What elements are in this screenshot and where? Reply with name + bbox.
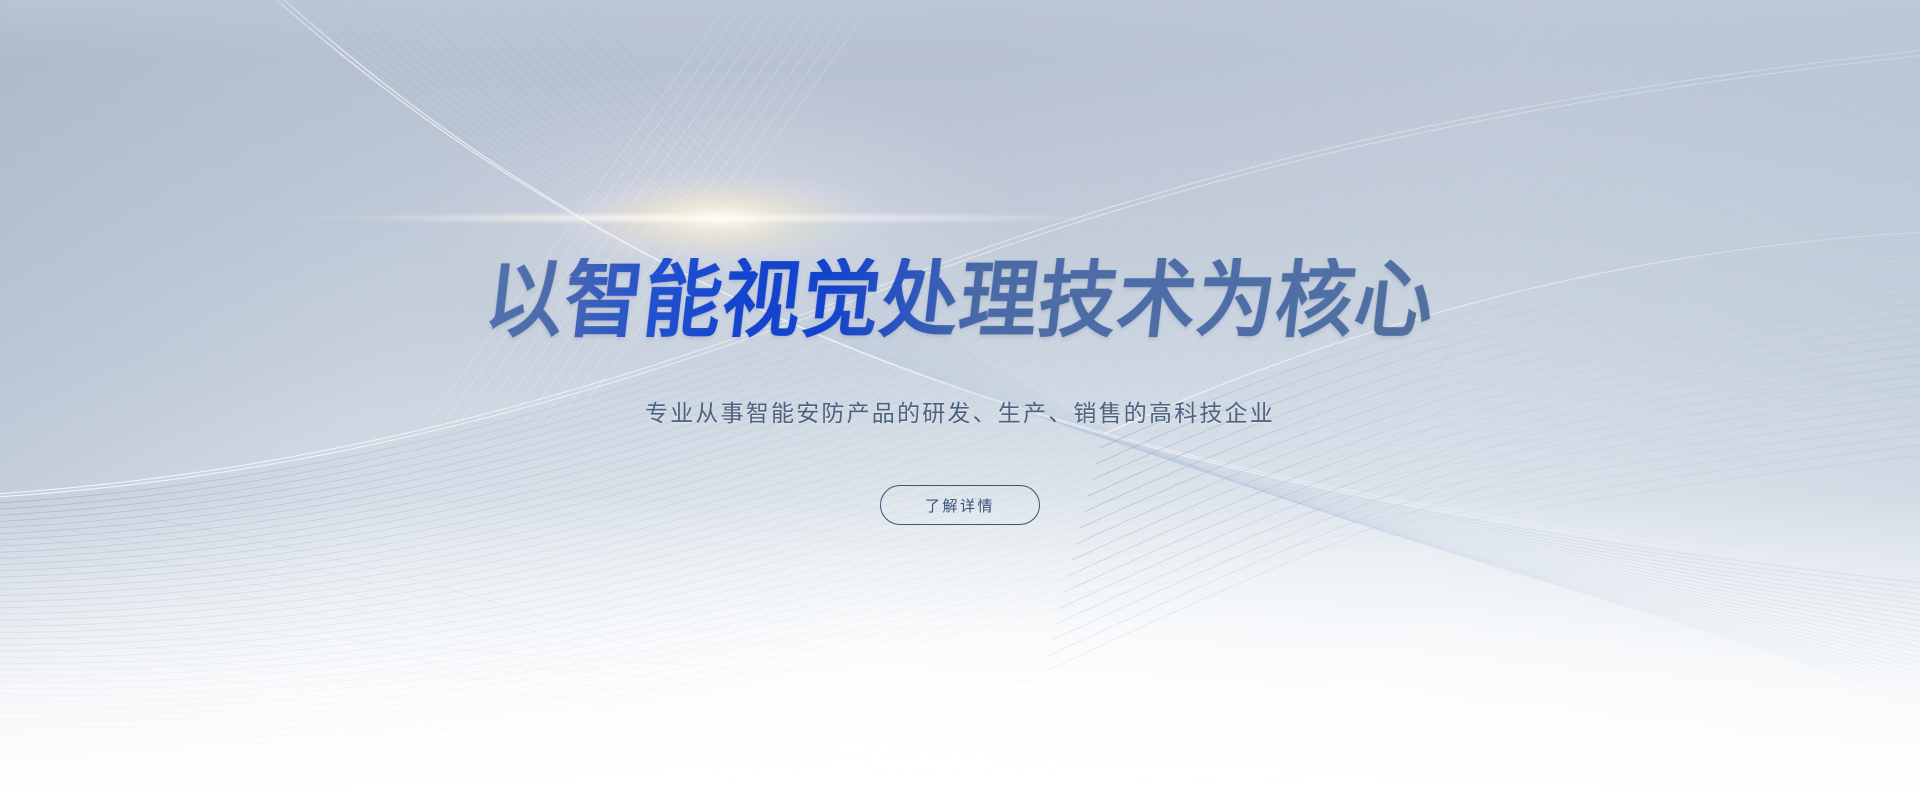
hero-headline: 以智能视觉处理技术为核心 [481,258,1439,342]
hero-banner: 以智能视觉处理技术为核心 专业从事智能安防产品的研发、生产、销售的高科技企业 了… [0,0,1920,800]
learn-more-button[interactable]: 了解详情 [880,485,1040,525]
hero-subheadline: 专业从事智能安防产品的研发、生产、销售的高科技企业 [645,394,1275,428]
